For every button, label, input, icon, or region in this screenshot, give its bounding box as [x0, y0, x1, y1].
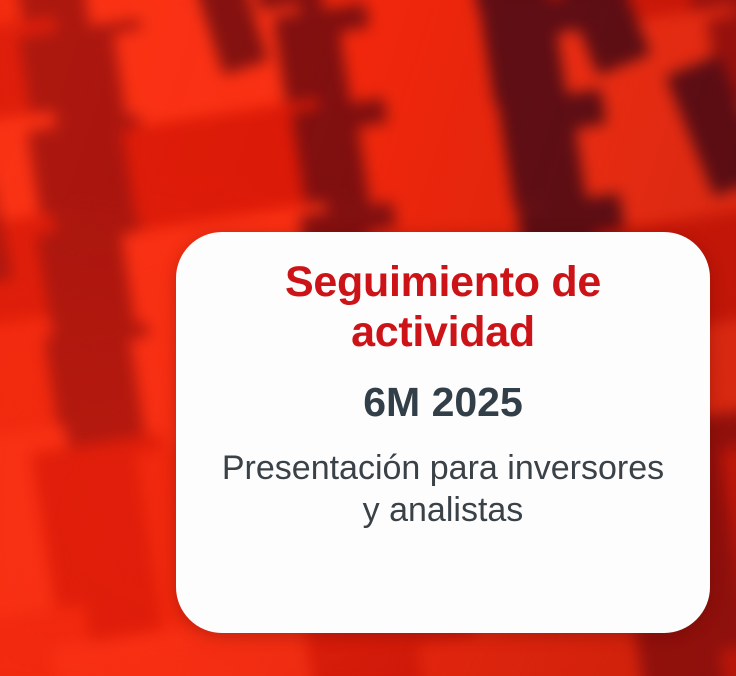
presentation-cover-slide: Seguimiento de actividad 6M 2025 Present…: [0, 0, 736, 676]
title-card: Seguimiento de actividad 6M 2025 Present…: [176, 232, 710, 633]
reporting-period-label: 6M 2025: [363, 380, 523, 425]
page-title: Seguimiento de actividad: [228, 258, 658, 358]
page-subtitle: Presentación para inversores y analistas: [213, 447, 673, 531]
